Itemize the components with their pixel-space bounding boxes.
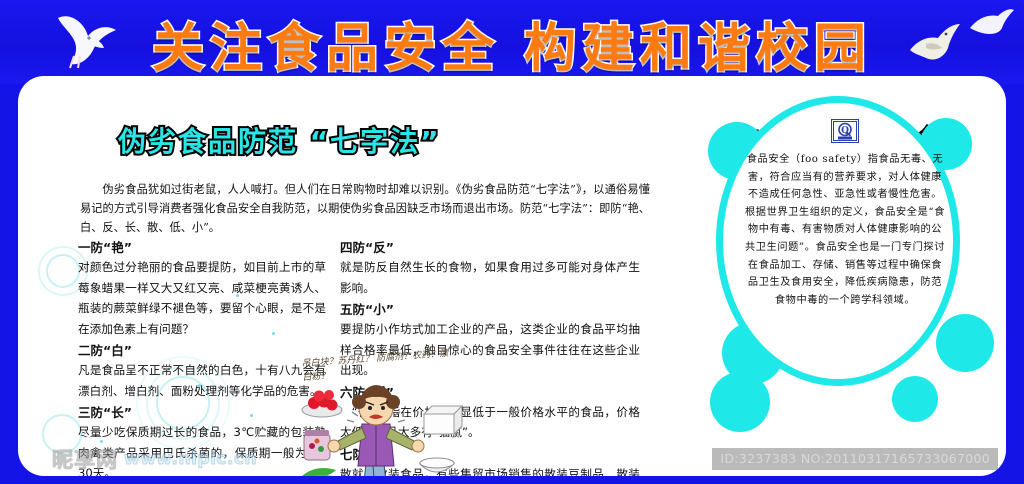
image-id-watermark: ID:3237383 NO:20110317165733067000 [712, 448, 998, 470]
section-heading: 一防“艳” [78, 238, 326, 257]
article-title: 伪劣食品防范 “七字法” [118, 120, 441, 160]
section-heading: 七防“散” [340, 445, 640, 464]
right-body-text: 食品安全（foo safety）指食品无毒、无害，符合应当有的营养要求，对人体健… [743, 151, 947, 309]
qs-quality-safety-logo: Q [831, 119, 859, 143]
article-columns: 一防“艳” 对颜色过分艳丽的食品要提防，如目前上市的草莓象蜡果一样又大又红又亮、… [40, 236, 670, 476]
section-body: 凡是食品呈不正常不自然的白色，十有八九会有漂白剂、增白剂、面粉处理剂等化学品的危… [78, 360, 326, 401]
section-body: 对颜色过分艳丽的食品要提防，如目前上市的草莓象蜡果一样又大又红又亮、咸菜梗亮黄诱… [78, 257, 326, 339]
oval-content: Q 食品安全（foo safety）指食品无毒、无害，符合应当有的营养要求，对人… [743, 119, 947, 377]
poster-canvas: 关注食品安全 构建和谐校园 伪劣食品防范 “七字法” 伪劣食品犹如过街老鼠，人人… [0, 0, 1024, 484]
header-banner: 关注食品安全 构建和谐校园 [0, 0, 1024, 84]
section-heading: 六防“低” [340, 383, 640, 402]
section-body: 就是防反自然生长的食物，如果食用过多可能对身体产生影响。 [340, 257, 640, 298]
content-panel: 伪劣食品防范 “七字法” 伪劣食品犹如过街老鼠，人人喊打。但人们在日常购物时却难… [18, 76, 1006, 476]
section-heading: 四防“反” [340, 238, 640, 257]
right-section: 什么是食品安全 Q [678, 76, 1006, 476]
page-title: 关注食品安全 构建和谐校园 [0, 6, 1024, 81]
cyan-blob-decoration [710, 372, 770, 432]
section-body: “低”是指在价格上明显低于一般价格水平的食品，价格太低的食品大多有“猫腻”。 [340, 402, 640, 443]
article-section: 伪劣食品防范 “七字法” 伪劣食品犹如过街老鼠，人人喊打。但人们在日常购物时却难… [40, 84, 670, 474]
article-column-left: 一防“艳” 对颜色过分艳丽的食品要提防，如目前上市的草莓象蜡果一样又大又红又亮、… [78, 236, 326, 476]
section-body: 要提防小作坊式加工企业的产品，这类企业的食品平均抽样合格率最低，触目惊心的食品安… [340, 319, 640, 381]
section-body: 散就是散装食品，有些集贸市场销售的散装豆制品、散装熟食、酱菜等可能来自地下加工厂… [340, 464, 640, 477]
section-body: 尽量少吃保质期过长的食品，3℃贮藏的包装熟肉禽类产品采用巴氏杀菌的，保质期一般为… [78, 422, 326, 476]
section-heading: 三防“长” [78, 403, 326, 422]
cyan-blob-decoration [892, 376, 938, 422]
article-intro: 伪劣食品犹如过街老鼠，人人喊打。但人们在日常购物时却难以识别。《伪劣食品防范“七… [80, 180, 650, 237]
section-heading: 二防“白” [78, 341, 326, 360]
section-heading: 五防“小” [340, 300, 640, 319]
content-oval-ring: Q 食品安全（foo safety）指食品无毒、无害，符合应当有的营养要求，对人… [716, 96, 960, 386]
article-column-right: 四防“反” 就是防反自然生长的食物，如果食用过多可能对身体产生影响。 五防“小”… [340, 236, 640, 476]
